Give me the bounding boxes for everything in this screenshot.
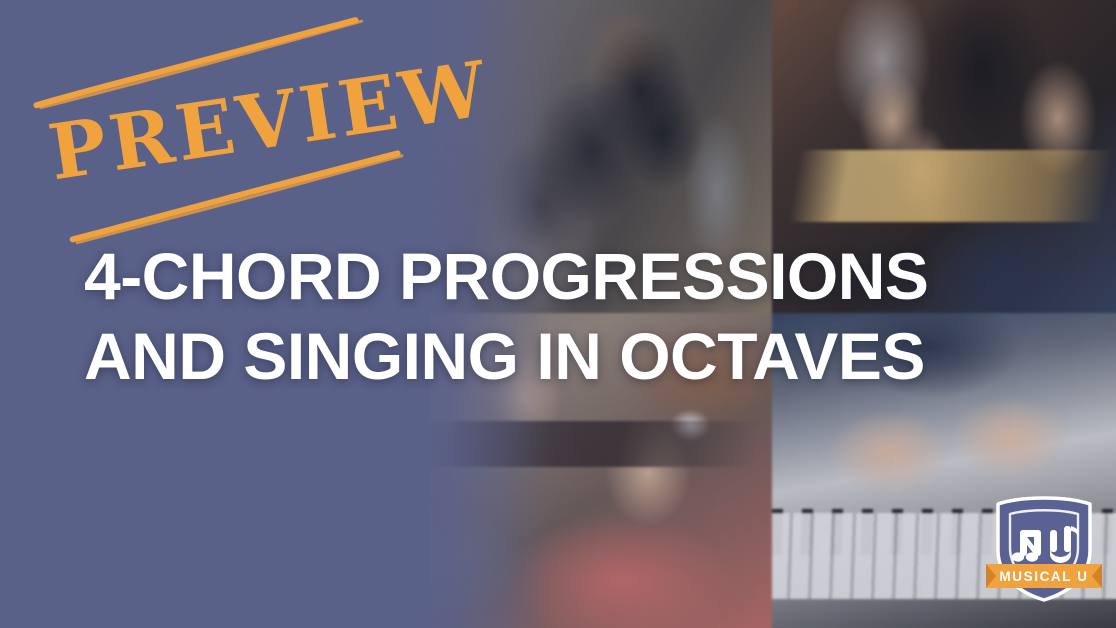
musical-u-logo: MUSICAL U	[984, 488, 1104, 606]
video-thumbnail: PREVIEW 4-CHORD PROGRESSIONS AND SINGING…	[0, 0, 1116, 628]
logo-banner: MUSICAL U	[986, 564, 1102, 588]
title-line-2: AND SINGING IN OCTAVES	[84, 316, 1064, 396]
title-line-1: 4-CHORD PROGRESSIONS	[84, 236, 1064, 316]
logo-banner-text: MUSICAL U	[999, 569, 1088, 584]
page-title: 4-CHORD PROGRESSIONS AND SINGING IN OCTA…	[84, 236, 1064, 396]
